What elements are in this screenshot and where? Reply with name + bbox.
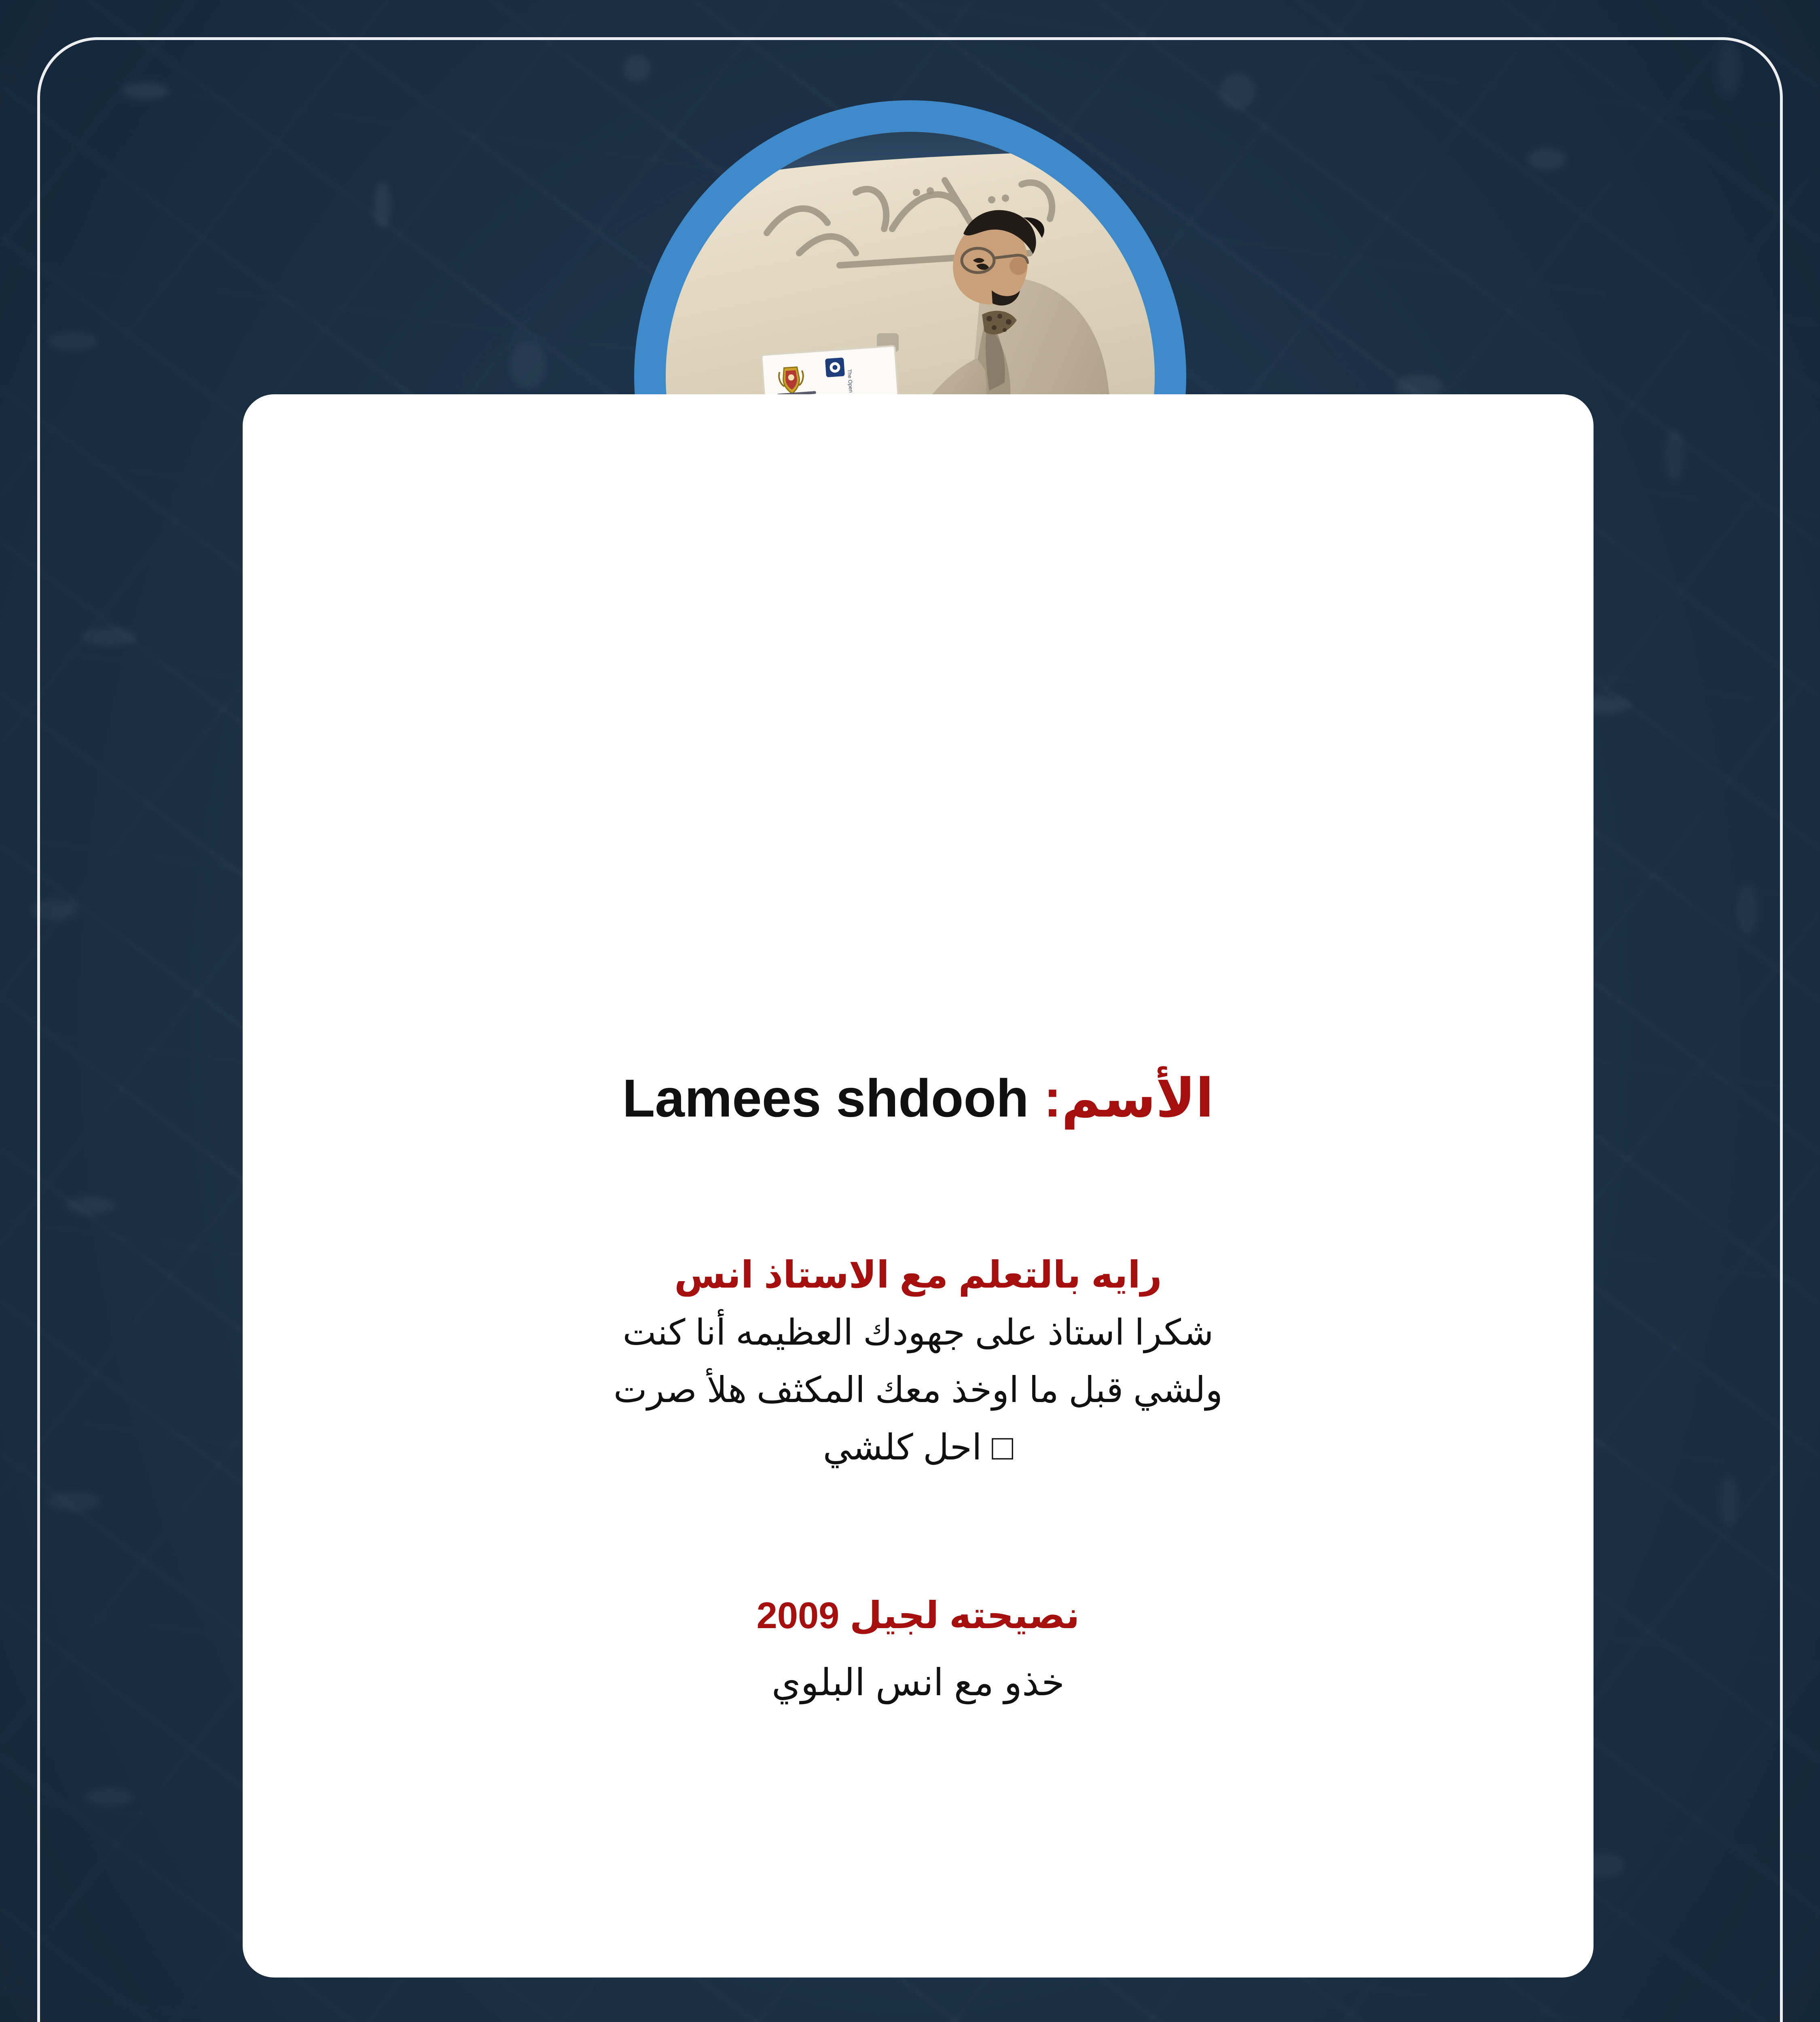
review-line-1: شكرا استاذ على جهودك العظيمه أنا كنت	[344, 1309, 1492, 1356]
review-line-3: □ احل كلشي	[344, 1424, 1492, 1471]
review-heading: رايه بالتعلم مع الاستاذ انس	[344, 1252, 1492, 1299]
name-value: Lamees shdooh	[622, 1068, 1029, 1128]
advice-heading: نصيحته لجيل 2009	[344, 1593, 1492, 1639]
review-line-2: ولشي قبل ما اوخذ معك المكثف هلأ صرت	[344, 1366, 1492, 1413]
student-name-row: الأسم: Lamees shdooh	[344, 1066, 1492, 1131]
advice-text: خذو مع انس البلوي	[344, 1658, 1492, 1707]
name-label: الأسم:	[1043, 1068, 1214, 1128]
advice-block: نصيحته لجيل 2009 خذو مع انس البلوي	[344, 1593, 1492, 1707]
review-block: رايه بالتعلم مع الاستاذ انس شكرا استاذ ع…	[344, 1252, 1492, 1471]
testimonial-poster: The Open University BACHELOR OF ARTS Ana…	[0, 0, 1820, 2022]
testimonial-card: الأسم: Lamees shdooh رايه بالتعلم مع الا…	[243, 394, 1594, 1978]
card-content: الأسم: Lamees shdooh رايه بالتعلم مع الا…	[243, 1066, 1594, 1707]
